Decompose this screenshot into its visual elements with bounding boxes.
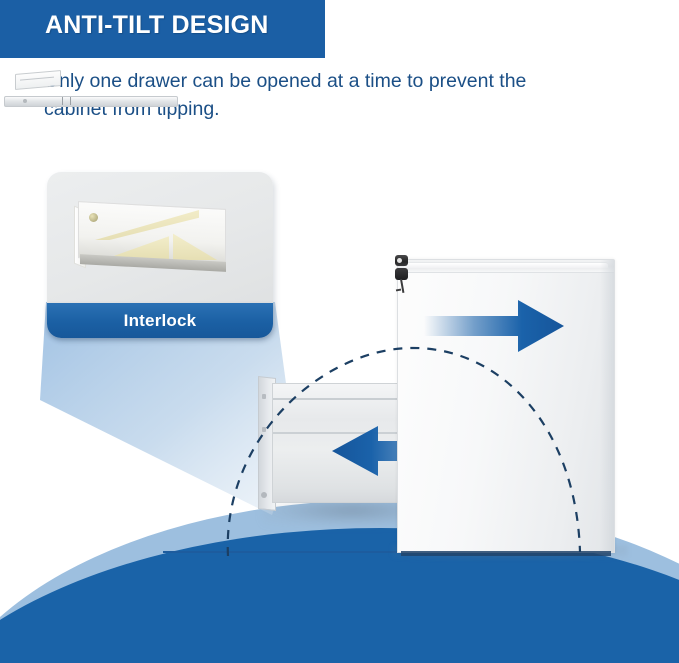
drawer-side-slot-lower	[262, 427, 266, 432]
interlock-mechanism-photo	[47, 172, 273, 303]
push-direction-arrow	[424, 297, 564, 355]
interlock-screw	[89, 213, 98, 222]
interlock-label-bar: Interlock	[47, 303, 273, 338]
drawer-slide-rail	[4, 96, 178, 107]
interlock-label-text: Interlock	[47, 303, 273, 338]
drawer-side-screw	[261, 492, 267, 498]
drawer-rail-notch	[62, 97, 71, 105]
cabinet-base	[401, 551, 611, 556]
anti-tilt-design-infographic: ANTI-TILT DESIGN Only one drawer can be …	[0, 0, 679, 663]
cabinet-right-edge	[600, 260, 614, 552]
drawer-rail-screw	[23, 99, 27, 103]
cabinet-top-lip	[404, 262, 608, 268]
cabinet-top-band	[398, 260, 614, 273]
page-title: ANTI-TILT DESIGN	[45, 11, 269, 40]
cabinet-lock-icon	[395, 255, 408, 266]
drawer-side-slot-upper	[262, 394, 266, 399]
